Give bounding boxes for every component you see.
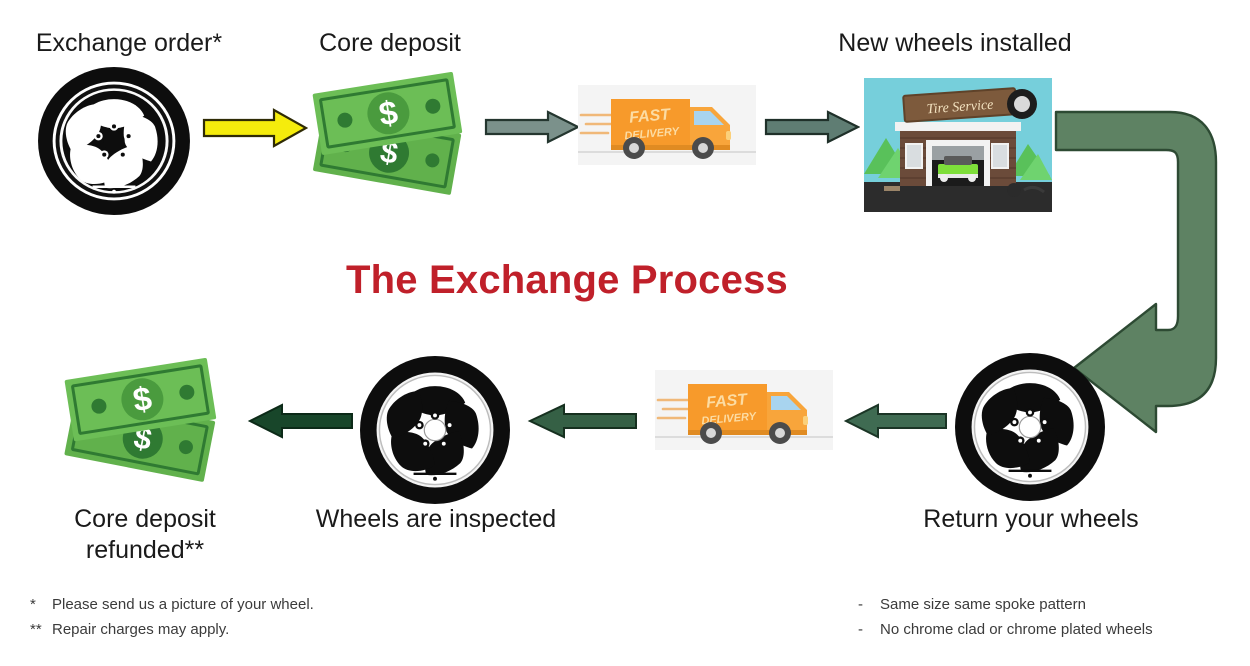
step-label-return-your-wheels: Return your wheels: [895, 504, 1167, 535]
footnote-text: Repair charges may apply.: [52, 621, 229, 638]
footnote-mark: -: [858, 592, 880, 617]
arrow-inspected-to-refund: [246, 403, 354, 439]
footnote-text: Same size same spoke pattern: [880, 596, 1086, 613]
footnote-right-1: -Same size same spoke pattern: [858, 592, 1153, 617]
step-label-core-deposit: Core deposit: [270, 28, 510, 59]
money-bills-icon-refund: $ $: [58, 352, 234, 492]
footnotes-left: *Please send us a picture of your wheel.…: [30, 592, 314, 642]
footnote-left-1: *Please send us a picture of your wheel.: [30, 592, 314, 617]
chrome-alloy-wheel-icon-return: [954, 352, 1106, 502]
footnote-text: Please send us a picture of your wheel.: [52, 596, 314, 613]
arrow-truck-to-shop: [764, 110, 860, 144]
fast-delivery-truck-icon: FAST DELIVERY: [578, 85, 756, 165]
footnote-mark: -: [858, 617, 880, 642]
page-title: The Exchange Process: [346, 258, 788, 303]
footnote-left-2: **Repair charges may apply.: [30, 617, 314, 642]
footnote-right-2: -No chrome clad or chrome plated wheels: [858, 617, 1153, 642]
step-label-exchange-order: Exchange order*: [0, 28, 258, 59]
footnotes-right: -Same size same spoke pattern -No chrome…: [858, 592, 1153, 642]
black-alloy-wheel-icon: [36, 66, 192, 216]
arrow-truck-to-inspected: [526, 403, 638, 439]
tire-service-shop-icon: Tire Service: [864, 78, 1052, 212]
step-label-wheels-inspected: Wheels are inspected: [300, 504, 572, 535]
fast-delivery-truck-icon-return: FAST DELIVERY: [655, 370, 833, 450]
exchange-process-infographic: Exchange order* Core deposit New wheels …: [0, 0, 1250, 666]
arrow-deposit-to-truck: [484, 110, 580, 144]
step-label-core-deposit-refunded: Core deposit refunded**: [20, 504, 270, 566]
footnote-mark: **: [30, 617, 52, 642]
step-label-new-wheels-installed: New wheels installed: [790, 28, 1120, 59]
footnote-mark: *: [30, 592, 52, 617]
arrow-order-to-deposit: [202, 108, 308, 148]
footnote-text: No chrome clad or chrome plated wheels: [880, 621, 1153, 638]
money-bills-icon: $ $: [306, 68, 478, 204]
arrow-return-to-truck: [842, 403, 948, 439]
chrome-alloy-wheel-icon-inspected: [359, 355, 511, 505]
